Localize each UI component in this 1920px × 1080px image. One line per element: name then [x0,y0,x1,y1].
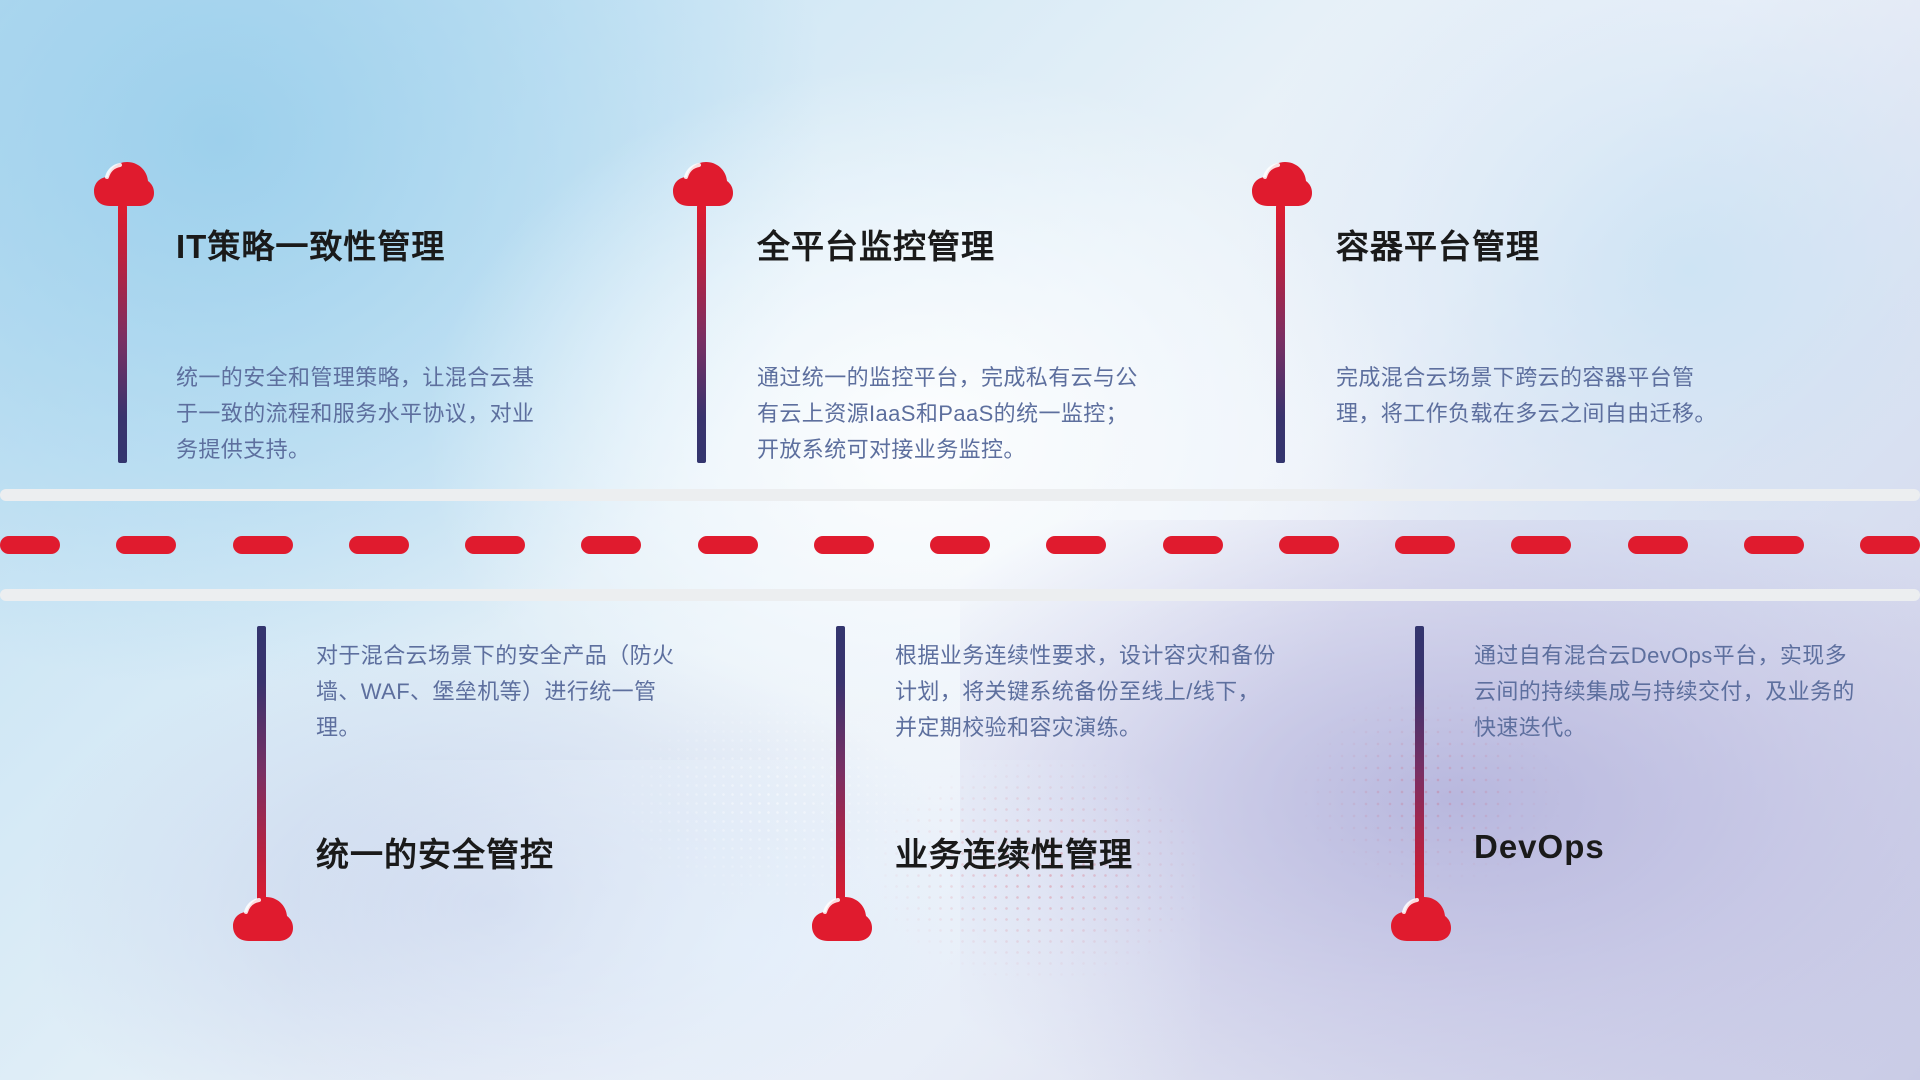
road-dash [233,536,293,554]
road-dash [1395,536,1455,554]
road-dash [0,536,60,554]
stem-bar-bottom-2 [836,626,845,908]
cloud-icon [93,160,155,208]
road-dash [116,536,176,554]
road-dash [1628,536,1688,554]
card-description-bottom-1: 对于混合云场景下的安全产品（防火墙、WAF、堡垒机等）进行统一管理。 [316,638,698,746]
card-description-top-2: 通过统一的监控平台，完成私有云与公有云上资源IaaS和PaaS的统一监控；开放系… [757,360,1139,468]
road-dash [1046,536,1106,554]
road-divider [0,489,1920,601]
stem-bar-bottom-3 [1415,626,1424,908]
road-dash [465,536,525,554]
card-description-top-3: 完成混合云场景下跨云的容器平台管理，将工作负载在多云之间自由迁移。 [1336,360,1718,432]
card-title-bottom-2: 业务连续性管理 [895,828,1133,876]
cloud-icon [811,895,873,943]
stem-bar-bottom-1 [257,626,266,908]
road-dash [1511,536,1571,554]
road-dash-line [0,536,1920,554]
card-title-bottom-3: DevOps [1474,828,1605,866]
card-description-top-1: 统一的安全和管理策略，让混合云基于一致的流程和服务水平协议，对业务提供支持。 [176,360,536,468]
cloud-icon [1251,160,1313,208]
road-dash [1279,536,1339,554]
road-dash [1744,536,1804,554]
road-edge-top [0,489,1920,501]
cloud-icon [672,160,734,208]
card-title-bottom-1: 统一的安全管控 [316,828,554,876]
road-dash [1163,536,1223,554]
card-title-top-2: 全平台监控管理 [757,220,995,268]
card-description-bottom-2: 根据业务连续性要求，设计容灾和备份计划，将关键系统备份至线上/线下，并定期校验和… [895,638,1277,746]
infographic-canvas: IT策略一致性管理 统一的安全和管理策略，让混合云基于一致的流程和服务水平协议，… [0,0,1920,1080]
stem-bar-top-3 [1276,205,1285,463]
road-edge-bottom [0,589,1920,601]
stem-bar-top-2 [697,205,706,463]
stem-bar-top-1 [118,205,127,463]
road-dash [698,536,758,554]
cloud-icon [232,895,294,943]
cloud-icon [1390,895,1452,943]
road-dash [930,536,990,554]
card-title-top-1: IT策略一致性管理 [176,220,445,268]
road-dash [1860,536,1920,554]
road-dash [814,536,874,554]
card-title-top-3: 容器平台管理 [1336,220,1540,268]
road-dash [581,536,641,554]
card-description-bottom-3: 通过自有混合云DevOps平台，实现多云间的持续集成与持续交付，及业务的快速迭代… [1474,638,1856,746]
road-dash [349,536,409,554]
